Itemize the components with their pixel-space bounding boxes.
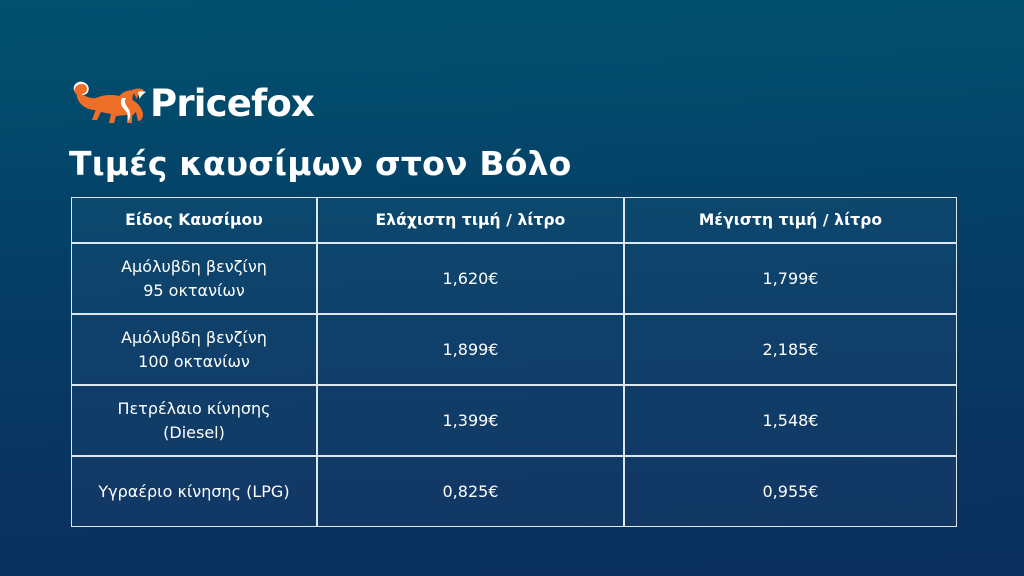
cell-fuel-type: Πετρέλαιο κίνησης (Diesel) xyxy=(71,385,317,456)
cell-fuel-type: Αμόλυβδη βενζίνη 100 οκτανίων xyxy=(71,314,317,385)
brand-name: Pricefox xyxy=(150,85,314,122)
brand-logo: Pricefox xyxy=(68,76,314,130)
cell-min-price: 1,399€ xyxy=(317,385,624,456)
fuel-type-line-1: Αμόλυβδη βενζίνη xyxy=(80,326,308,349)
cell-max-price: 0,955€ xyxy=(624,456,957,527)
table-row: Αμόλυβδη βενζίνη 95 οκτανίων 1,620€ 1,79… xyxy=(71,243,957,314)
fuel-type-line-1: Υγραέριο κίνησης (LPG) xyxy=(80,480,308,503)
fuel-type-line-1: Πετρέλαιο κίνησης xyxy=(80,397,308,420)
cell-max-price: 1,799€ xyxy=(624,243,957,314)
fuel-type-line-2: (Diesel) xyxy=(80,421,308,444)
fox-icon xyxy=(68,77,148,129)
column-header-fuel-type: Είδος Καυσίμου xyxy=(71,197,317,243)
table-header-row: Είδος Καυσίμου Ελάχιστη τιμή / λίτρο Μέγ… xyxy=(71,197,957,243)
cell-min-price: 1,620€ xyxy=(317,243,624,314)
fuel-type-line-1: Αμόλυβδη βενζίνη xyxy=(80,255,308,278)
cell-min-price: 1,899€ xyxy=(317,314,624,385)
cell-min-price: 0,825€ xyxy=(317,456,624,527)
fuel-type-line-2: 100 οκτανίων xyxy=(80,350,308,373)
column-header-min-price: Ελάχιστη τιμή / λίτρο xyxy=(317,197,624,243)
slide-canvas: Pricefox Τιμές καυσίμων στον Βόλο Είδος … xyxy=(0,0,1024,576)
fuel-type-line-2: 95 οκτανίων xyxy=(80,279,308,302)
cell-fuel-type: Αμόλυβδη βενζίνη 95 οκτανίων xyxy=(71,243,317,314)
fuel-price-table: Είδος Καυσίμου Ελάχιστη τιμή / λίτρο Μέγ… xyxy=(71,197,957,527)
cell-max-price: 1,548€ xyxy=(624,385,957,456)
cell-fuel-type: Υγραέριο κίνησης (LPG) xyxy=(71,456,317,527)
table-row: Υγραέριο κίνησης (LPG) 0,825€ 0,955€ xyxy=(71,456,957,527)
table-row: Αμόλυβδη βενζίνη 100 οκτανίων 1,899€ 2,1… xyxy=(71,314,957,385)
page-title: Τιμές καυσίμων στον Βόλο xyxy=(69,144,572,184)
table-row: Πετρέλαιο κίνησης (Diesel) 1,399€ 1,548€ xyxy=(71,385,957,456)
column-header-max-price: Μέγιστη τιμή / λίτρο xyxy=(624,197,957,243)
cell-max-price: 2,185€ xyxy=(624,314,957,385)
